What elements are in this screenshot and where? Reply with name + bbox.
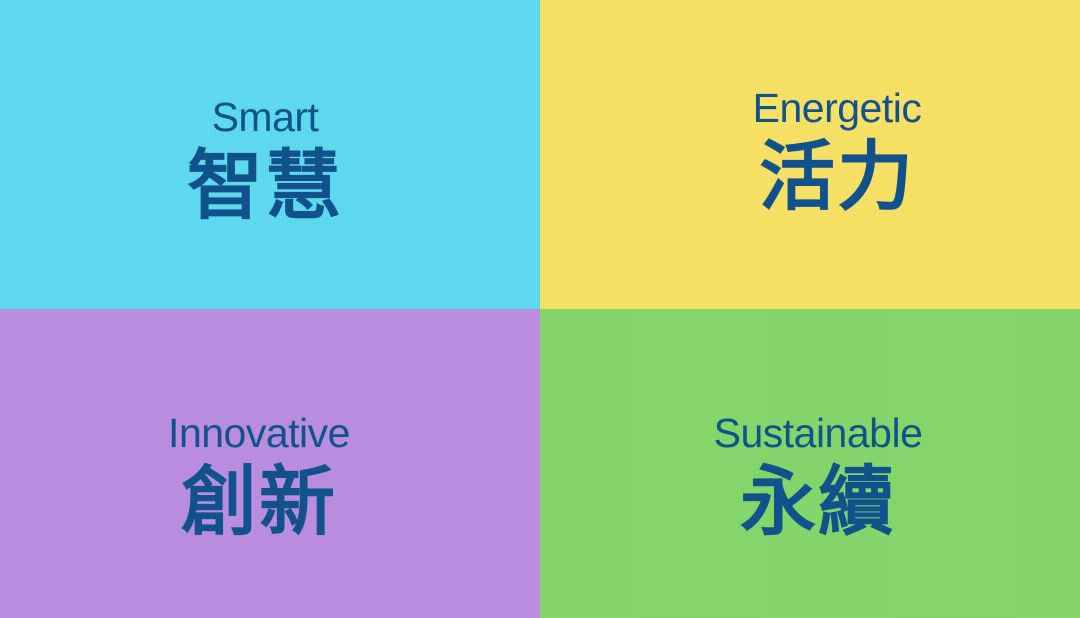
value-label-zh-innovative: 創新 <box>181 465 337 541</box>
value-label-en-smart: Smart <box>212 96 319 139</box>
value-cell-energetic[interactable]: Energetic 活力 <box>540 0 1080 309</box>
value-cell-energetic-content: Energetic 活力 <box>753 87 922 216</box>
brand-values-grid: Smart 智慧 Energetic 活力 Innovative 創新 Sust… <box>0 0 1080 618</box>
value-label-en-innovative: Innovative <box>168 412 350 455</box>
value-label-en-energetic: Energetic <box>753 87 922 130</box>
value-cell-sustainable-content: Sustainable 永續 <box>714 412 923 541</box>
value-cell-innovative-content: Innovative 創新 <box>168 412 350 541</box>
value-cell-innovative[interactable]: Innovative 創新 <box>0 309 540 618</box>
value-label-zh-smart: 智慧 <box>187 149 343 225</box>
value-label-en-sustainable: Sustainable <box>714 412 923 455</box>
value-cell-sustainable[interactable]: Sustainable 永續 <box>540 309 1080 618</box>
value-cell-smart-content: Smart 智慧 <box>187 96 343 225</box>
value-label-zh-sustainable: 永續 <box>740 465 896 541</box>
value-label-zh-energetic: 活力 <box>759 140 915 216</box>
value-cell-smart[interactable]: Smart 智慧 <box>0 0 540 309</box>
